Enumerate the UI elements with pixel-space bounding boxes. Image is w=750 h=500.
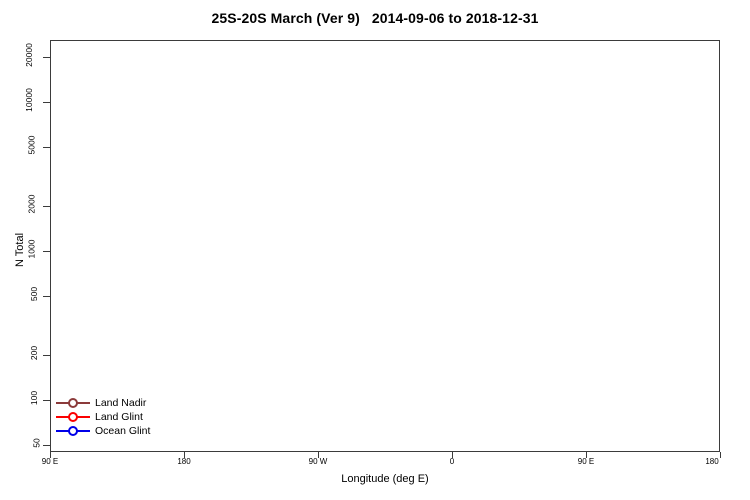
x-tick [720,452,721,458]
legend-dot-icon [68,398,78,408]
y-tick-label-text: 10000 [24,88,34,112]
y-tick-label-text: 200 [29,346,39,360]
y-tick-label: 2000 [0,199,41,209]
y-tick [43,296,50,297]
x-axis-title: Longitude (deg E) [50,473,720,485]
x-tick-label: 0 [450,457,454,466]
y-tick-label: 500 [0,289,41,299]
legend-marker-icon [56,411,90,423]
x-tick-label: 90 E [42,457,58,466]
y-tick [43,251,50,252]
legend-label: Ocean Glint [95,424,150,438]
y-tick-label: 20000 [0,50,41,60]
y-tick-label-text: 2000 [27,195,37,214]
x-tick-label: 180 [705,457,718,466]
y-tick-label-text: 20000 [24,43,34,67]
y-tick-label: 5000 [0,140,41,150]
legend-label: Land Glint [95,410,143,424]
legend-marker-icon [56,425,90,437]
x-tick-label: 90 E [578,457,594,466]
legend-item-ocean-glint[interactable]: Ocean Glint [56,424,150,438]
y-tick-label: 1000 [0,244,41,254]
y-tick-label-text: 500 [29,287,39,301]
y-tick-label-text: 50 [31,438,41,447]
chart-container: 25S-20S March (Ver 9) 2014-09-06 to 2018… [0,0,750,500]
legend-marker-icon [56,397,90,409]
y-tick-label: 50 [0,438,41,448]
y-tick-label: 10000 [0,95,41,105]
y-tick-label: 100 [0,393,41,403]
chart-title: 25S-20S March (Ver 9) 2014-09-06 to 2018… [0,10,750,26]
y-tick [43,445,50,446]
y-tick [43,102,50,103]
x-tick-label: 180 [177,457,190,466]
legend-dot-icon [68,426,78,436]
legend-label: Land Nadir [95,396,146,410]
y-tick-label-text: 1000 [27,240,37,259]
y-tick-label: 200 [0,348,41,358]
y-tick [43,400,50,401]
x-tick-label: 90 W [309,457,328,466]
legend-item-land-glint[interactable]: Land Glint [56,410,150,424]
y-tick [43,206,50,207]
y-tick-label-text: 5000 [27,135,37,154]
legend-dot-icon [68,412,78,422]
plot-frame [50,40,720,452]
y-tick-label-text: 100 [29,391,39,405]
y-tick [43,355,50,356]
chart-legend: Land NadirLand GlintOcean Glint [56,396,150,438]
y-tick [43,57,50,58]
legend-item-land-nadir[interactable]: Land Nadir [56,396,150,410]
y-tick [43,147,50,148]
